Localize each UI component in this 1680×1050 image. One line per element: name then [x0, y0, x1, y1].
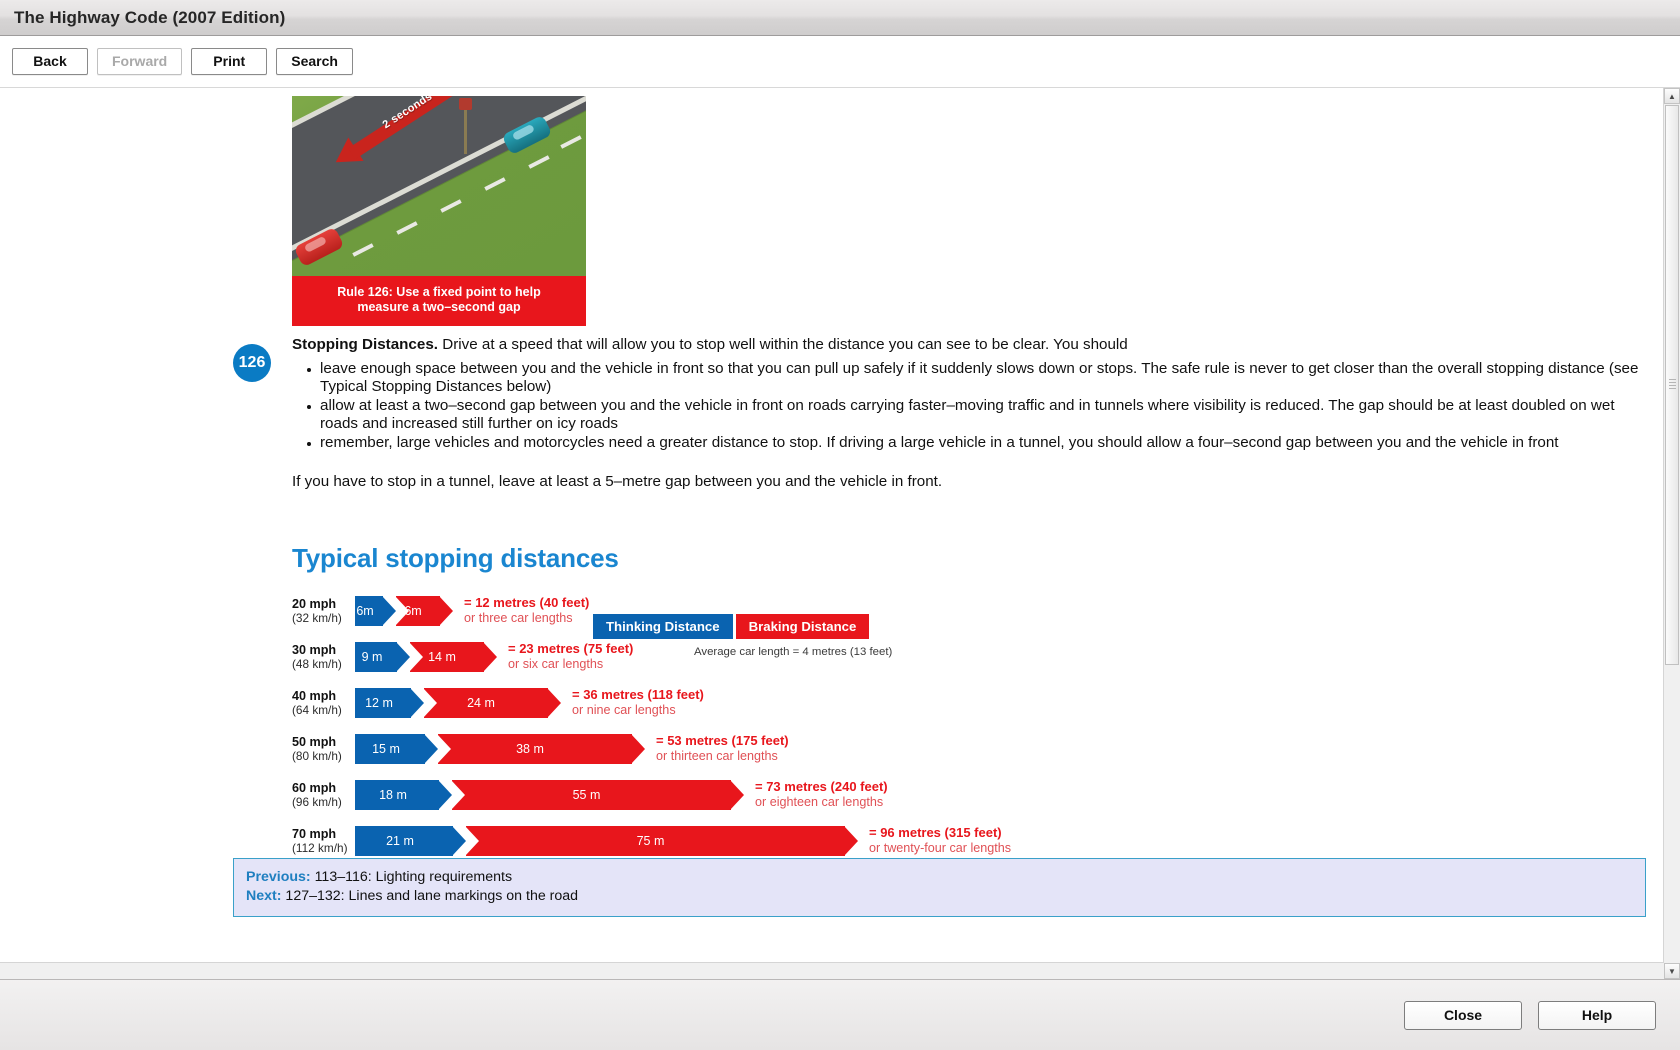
forward-button: Forward — [97, 48, 182, 75]
chevron-right-icon — [452, 826, 466, 856]
chevron-notch-icon — [423, 688, 437, 718]
previous-label: Previous: — [246, 869, 311, 885]
thinking-distance-bar: 15 m — [355, 734, 425, 764]
chart-title: Typical stopping distances — [292, 543, 1522, 574]
row-total-label: = 53 metres (175 feet) or thirteen car l… — [656, 734, 789, 763]
rule-text: Stopping Distances. Drive at a speed tha… — [292, 336, 1654, 491]
braking-distance-label: 75 m — [637, 834, 665, 848]
row-total-metres: = 23 metres (75 feet) — [508, 642, 633, 657]
lane-dash — [560, 135, 581, 149]
rule-tail-paragraph: If you have to stop in a tunnel, leave a… — [292, 473, 1654, 492]
row-bars: 18 m 55 m — [355, 780, 731, 810]
lane-dash — [396, 221, 417, 235]
braking-distance-label: 24 m — [467, 696, 495, 710]
chevron-right-icon — [631, 734, 645, 764]
list-item: allow at least a two–second gap between … — [307, 397, 1654, 434]
thinking-distance-bar: 6m — [355, 596, 383, 626]
row-speed: 60 mph (96 km/h) — [292, 781, 350, 809]
content-area: 2 seconds Rule 126: Use a fixed point to… — [0, 87, 1680, 979]
thinking-distance-bar: 21 m — [355, 826, 453, 856]
row-total-metres: = 12 metres (40 feet) — [464, 596, 589, 611]
row-total-car-lengths: or nine car lengths — [572, 703, 704, 718]
row-speed: 50 mph (80 km/h) — [292, 735, 350, 763]
next-label: Next: — [246, 888, 281, 904]
vertical-scrollbar[interactable]: ▲ ▼ — [1663, 88, 1680, 979]
row-speed-mph: 30 mph — [292, 643, 350, 657]
thinking-distance-bar: 12 m — [355, 688, 411, 718]
next-link[interactable]: Next: 127–132: Lines and lane markings o… — [246, 887, 1633, 906]
scroll-up-arrow-icon[interactable]: ▲ — [1664, 88, 1680, 104]
braking-distance-bar: 24 m — [424, 688, 548, 718]
lane-dash — [528, 155, 549, 169]
chevron-right-icon — [382, 596, 396, 626]
next-text: 127–132: Lines and lane markings on the … — [281, 888, 578, 904]
row-speed-kmh: (80 km/h) — [292, 749, 350, 763]
row-bars: 15 m 38 m — [355, 734, 632, 764]
chevron-right-icon — [483, 642, 497, 672]
thinking-distance-label: 12 m — [365, 696, 393, 710]
chevron-right-icon — [396, 642, 410, 672]
row-total-metres: = 73 metres (240 feet) — [755, 780, 888, 795]
row-total-label: = 36 metres (118 feet) or nine car lengt… — [572, 688, 704, 717]
bottom-bar: Close Help — [0, 979, 1680, 1050]
row-speed: 40 mph (64 km/h) — [292, 689, 350, 717]
row-total-label: = 73 metres (240 feet) or eighteen car l… — [755, 780, 888, 809]
previous-link[interactable]: Previous: 113–116: Lighting requirements — [246, 868, 1633, 887]
chart-rows: 20 mph (32 km/h) 6m 6m — [292, 588, 1522, 864]
lane-dash — [440, 199, 461, 213]
list-item: leave enough space between you and the v… — [307, 360, 1654, 397]
chevron-right-icon — [439, 596, 453, 626]
row-speed-kmh: (96 km/h) — [292, 795, 350, 809]
braking-distance-label: 38 m — [516, 742, 544, 756]
scroll-down-arrow-icon[interactable]: ▼ — [1664, 963, 1680, 979]
toolbar: Back Forward Print Search — [0, 36, 1680, 86]
row-total-car-lengths: or twenty-four car lengths — [869, 841, 1011, 856]
row-speed-mph: 40 mph — [292, 689, 350, 703]
page-navigation-box: Previous: 113–116: Lighting requirements… — [233, 858, 1646, 917]
figure-caption-line1: Rule 126: Use a fixed point to help — [337, 285, 541, 299]
chevron-notch-icon — [409, 642, 423, 672]
stopping-distances-chart: Typical stopping distances Thinking Dist… — [292, 543, 1522, 864]
row-total-car-lengths: or six car lengths — [508, 657, 633, 672]
row-bars: 21 m 75 m — [355, 826, 845, 856]
chart-row: 30 mph (48 km/h) 9 m 14 m — [292, 634, 1522, 680]
chevron-notch-icon — [437, 734, 451, 764]
braking-distance-label: 55 m — [573, 788, 601, 802]
row-speed: 70 mph (112 km/h) — [292, 827, 350, 855]
document-body: 2 seconds Rule 126: Use a fixed point to… — [0, 88, 1664, 963]
row-total-metres: = 96 metres (315 feet) — [869, 826, 1011, 841]
thinking-distance-label: 18 m — [379, 788, 407, 802]
braking-distance-bar: 6m — [396, 596, 440, 626]
chart-row: 20 mph (32 km/h) 6m 6m — [292, 588, 1522, 634]
row-total-car-lengths: or eighteen car lengths — [755, 795, 888, 810]
rule-lead-rest: Drive at a speed that will allow you to … — [438, 336, 1128, 353]
braking-distance-label: 6m — [404, 604, 421, 618]
figure-caption: Rule 126: Use a fixed point to help meas… — [292, 276, 586, 326]
rule-lead-paragraph: Stopping Distances. Drive at a speed tha… — [292, 336, 1654, 355]
previous-text: 113–116: Lighting requirements — [311, 869, 512, 885]
lane-dash — [484, 177, 505, 191]
row-total-metres: = 53 metres (175 feet) — [656, 734, 789, 749]
thinking-distance-bar: 18 m — [355, 780, 439, 810]
help-button[interactable]: Help — [1538, 1001, 1656, 1030]
document-page: 2 seconds Rule 126: Use a fixed point to… — [0, 88, 1664, 963]
thinking-distance-bar: 9 m — [355, 642, 397, 672]
rule-figure: 2 seconds Rule 126: Use a fixed point to… — [292, 96, 586, 326]
row-speed-mph: 60 mph — [292, 781, 350, 795]
thinking-distance-label: 9 m — [362, 650, 383, 664]
row-total-car-lengths: or thirteen car lengths — [656, 749, 789, 764]
chevron-notch-icon — [465, 826, 479, 856]
close-button[interactable]: Close — [1404, 1001, 1522, 1030]
braking-distance-bar: 55 m — [452, 780, 731, 810]
fixed-point-post-icon — [464, 106, 467, 154]
two-second-gap-illustration: 2 seconds — [292, 96, 586, 276]
print-button[interactable]: Print — [191, 48, 267, 75]
row-speed: 30 mph (48 km/h) — [292, 643, 350, 671]
braking-distance-bar: 75 m — [466, 826, 845, 856]
row-total-label: = 23 metres (75 feet) or six car lengths — [508, 642, 633, 671]
application-window: The Highway Code (2007 Edition) Back For… — [0, 0, 1680, 1050]
row-bars: 9 m 14 m — [355, 642, 484, 672]
vertical-scrollbar-thumb[interactable] — [1665, 105, 1679, 665]
row-speed-kmh: (32 km/h) — [292, 611, 350, 625]
row-total-label: = 96 metres (315 feet) or twenty-four ca… — [869, 826, 1011, 855]
search-button[interactable]: Search — [276, 48, 353, 75]
chevron-right-icon — [424, 734, 438, 764]
scrollbar-grip-icon — [1669, 379, 1676, 391]
row-speed-kmh: (48 km/h) — [292, 657, 350, 671]
rule-number-badge: 126 — [233, 344, 271, 382]
horizontal-scrollbar[interactable] — [0, 962, 1664, 979]
window-title: The Highway Code (2007 Edition) — [14, 8, 285, 28]
braking-distance-label: 14 m — [428, 650, 456, 664]
row-total-metres: = 36 metres (118 feet) — [572, 688, 704, 703]
braking-distance-bar: 14 m — [410, 642, 484, 672]
row-total-car-lengths: or three car lengths — [464, 611, 589, 626]
thinking-distance-label: 6m — [356, 604, 373, 618]
figure-caption-line2: measure a two–second gap — [357, 300, 520, 314]
rule-bullet-list: leave enough space between you and the v… — [292, 360, 1654, 453]
list-item: remember, large vehicles and motorcycles… — [307, 434, 1654, 453]
row-speed-mph: 20 mph — [292, 597, 350, 611]
row-bars: 12 m 24 m — [355, 688, 548, 718]
rule-block: 126 Stopping Distances. Drive at a speed… — [233, 336, 1654, 491]
row-speed-kmh: (112 km/h) — [292, 841, 350, 855]
chart-row: 40 mph (64 km/h) 12 m 24 m — [292, 680, 1522, 726]
thinking-distance-label: 15 m — [372, 742, 400, 756]
row-speed: 20 mph (32 km/h) — [292, 597, 350, 625]
braking-distance-bar: 38 m — [438, 734, 632, 764]
title-bar: The Highway Code (2007 Edition) — [0, 0, 1680, 36]
row-bars: 6m 6m — [355, 596, 440, 626]
back-button[interactable]: Back — [12, 48, 88, 75]
chevron-right-icon — [438, 780, 452, 810]
chevron-notch-icon — [451, 780, 465, 810]
row-speed-kmh: (64 km/h) — [292, 703, 350, 717]
rule-lead-bold: Stopping Distances. — [292, 336, 438, 353]
chevron-right-icon — [730, 780, 744, 810]
row-speed-mph: 70 mph — [292, 827, 350, 841]
lane-dash — [352, 243, 373, 257]
chart-row: 60 mph (96 km/h) 18 m 55 m — [292, 772, 1522, 818]
chevron-right-icon — [844, 826, 858, 856]
row-total-label: = 12 metres (40 feet) or three car lengt… — [464, 596, 589, 625]
chart-row: 50 mph (80 km/h) 15 m 38 m — [292, 726, 1522, 772]
thinking-distance-label: 21 m — [386, 834, 414, 848]
chevron-right-icon — [547, 688, 561, 718]
row-speed-mph: 50 mph — [292, 735, 350, 749]
chevron-right-icon — [410, 688, 424, 718]
